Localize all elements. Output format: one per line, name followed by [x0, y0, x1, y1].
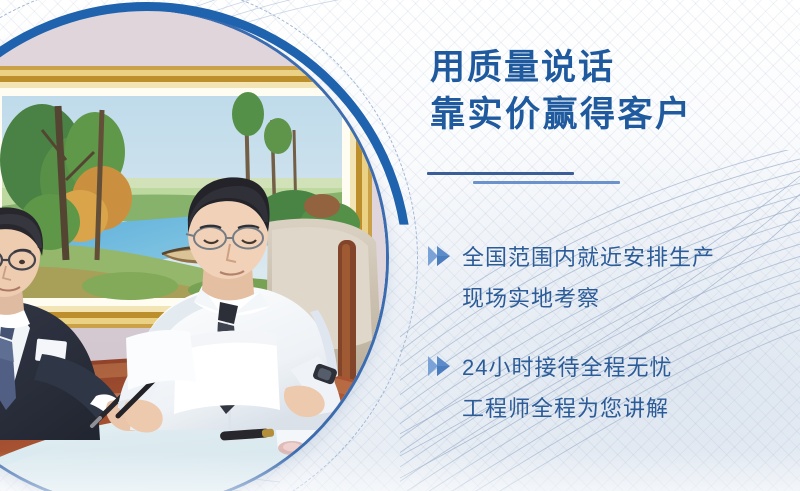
content-column: 用质量说话 靠实价赢得客户 全国范围内就近安排生产 现场实地考察: [425, 0, 800, 491]
headline-group: 用质量说话 靠实价赢得客户: [430, 45, 800, 138]
promo-banner: 用质量说话 靠实价赢得客户 全国范围内就近安排生产 现场实地考察: [0, 0, 800, 491]
headline-line-1: 用质量说话: [430, 45, 800, 92]
feature-item-2-text: 24小时接待全程无忧 工程师全程为您讲解: [462, 348, 800, 430]
feature-item-1-text: 全国范围内就近安排生产 现场实地考察: [462, 238, 800, 320]
photo-medallion: [0, 10, 386, 491]
divider-line-top: [427, 172, 574, 175]
divider-line-bottom: [473, 181, 620, 184]
double-chevron-right-icon: [425, 352, 455, 380]
feature-item-2-line-1: 24小时接待全程无忧: [462, 348, 800, 389]
feature-item-2-line-2: 工程师全程为您讲解: [462, 389, 800, 430]
feature-item-1-line-2: 现场实地考察: [462, 279, 800, 320]
feature-item-1-line-1: 全国范围内就近安排生产: [462, 238, 800, 279]
business-signing-photo: [0, 10, 386, 491]
headline-line-2: 靠实价赢得客户: [430, 92, 800, 139]
feature-item-1: 全国范围内就近安排生产 现场实地考察: [425, 238, 800, 320]
double-chevron-right-icon: [425, 242, 455, 270]
feature-item-2: 24小时接待全程无忧 工程师全程为您讲解: [425, 348, 800, 430]
divider-group: [425, 172, 795, 194]
